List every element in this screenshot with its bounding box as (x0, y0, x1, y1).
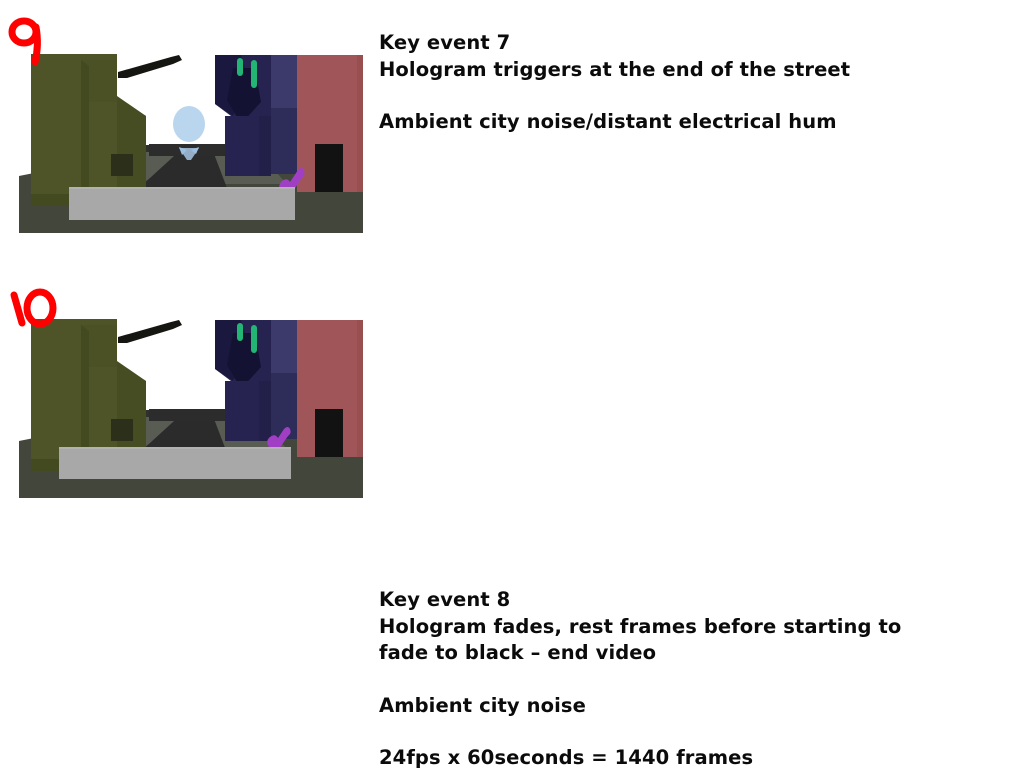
caption-audio-block-8: Ambient city noise (379, 693, 979, 720)
caption-audio-8: Ambient city noise (379, 693, 979, 720)
foreground-bar-edge (69, 187, 295, 189)
caption-block-7: Key event 7 Hologram triggers at the end… (379, 30, 979, 136)
building-navy-lower-shade (259, 116, 271, 176)
building-red-edge (357, 55, 363, 192)
caption-audio-7: Ambient city noise/distant electrical hu… (379, 109, 979, 136)
foreground-bar (69, 187, 295, 220)
neon-strip-left (237, 58, 243, 76)
building-red-door (315, 409, 343, 457)
street-center-far (149, 409, 233, 421)
caption-title-7: Key event 7 Hologram triggers at the end… (379, 30, 979, 83)
building-red-edge (357, 320, 363, 457)
caption-spacer-8b (379, 719, 979, 745)
caption-block-8: Key event 8 Hologram fades, rest frames … (379, 587, 979, 772)
caption-frame-math-block: 24fps x 60seconds = 1440 frames (379, 745, 979, 772)
building-left-window (111, 154, 133, 176)
hologram-orb (173, 106, 205, 142)
city-street-scene-hologram-faded (19, 289, 363, 498)
neon-strip-left (237, 323, 243, 341)
caption-title-text-8: Key event 8 (379, 587, 979, 614)
foreground-bar (59, 447, 291, 479)
caption-frame-math: 24fps x 60seconds = 1440 frames (379, 745, 979, 772)
building-navy-lower-shade (259, 381, 271, 441)
storyboard-panel-8: Key event 8 Hologram fades, rest frames … (0, 278, 1024, 558)
building-left-window (111, 419, 133, 441)
neon-strip-right (251, 60, 257, 88)
building-indigo (271, 320, 297, 381)
caption-spacer-7 (379, 83, 979, 109)
building-left-shade (81, 60, 89, 204)
storyboard-panel-7: Key event 7 Hologram triggers at the end… (0, 0, 1024, 260)
caption-description-line-1-8: Hologram fades, rest frames before start… (379, 614, 979, 641)
caption-title-8: Key event 8 Hologram fades, rest frames … (379, 587, 979, 667)
building-indigo-lower (271, 108, 297, 174)
caption-audio-block-7: Ambient city noise/distant electrical hu… (379, 109, 979, 136)
scene-thumbnail-8[interactable] (19, 289, 363, 498)
caption-title-text-7: Key event 7 (379, 30, 979, 57)
neon-strip-right (251, 325, 257, 353)
caption-spacer-8a (379, 667, 979, 693)
city-street-scene-with-hologram (19, 24, 363, 233)
foreground-bar-edge (59, 447, 291, 449)
building-left-front-facet (31, 54, 81, 206)
caption-description-line-2-8: fade to black – end video (379, 640, 979, 667)
building-red-door (315, 144, 343, 192)
building-indigo (271, 55, 297, 116)
storyboard-page: Key event 7 Hologram triggers at the end… (0, 0, 1024, 576)
caption-description-7: Hologram triggers at the end of the stre… (379, 57, 979, 84)
scene-thumbnail-7[interactable] (19, 24, 363, 233)
